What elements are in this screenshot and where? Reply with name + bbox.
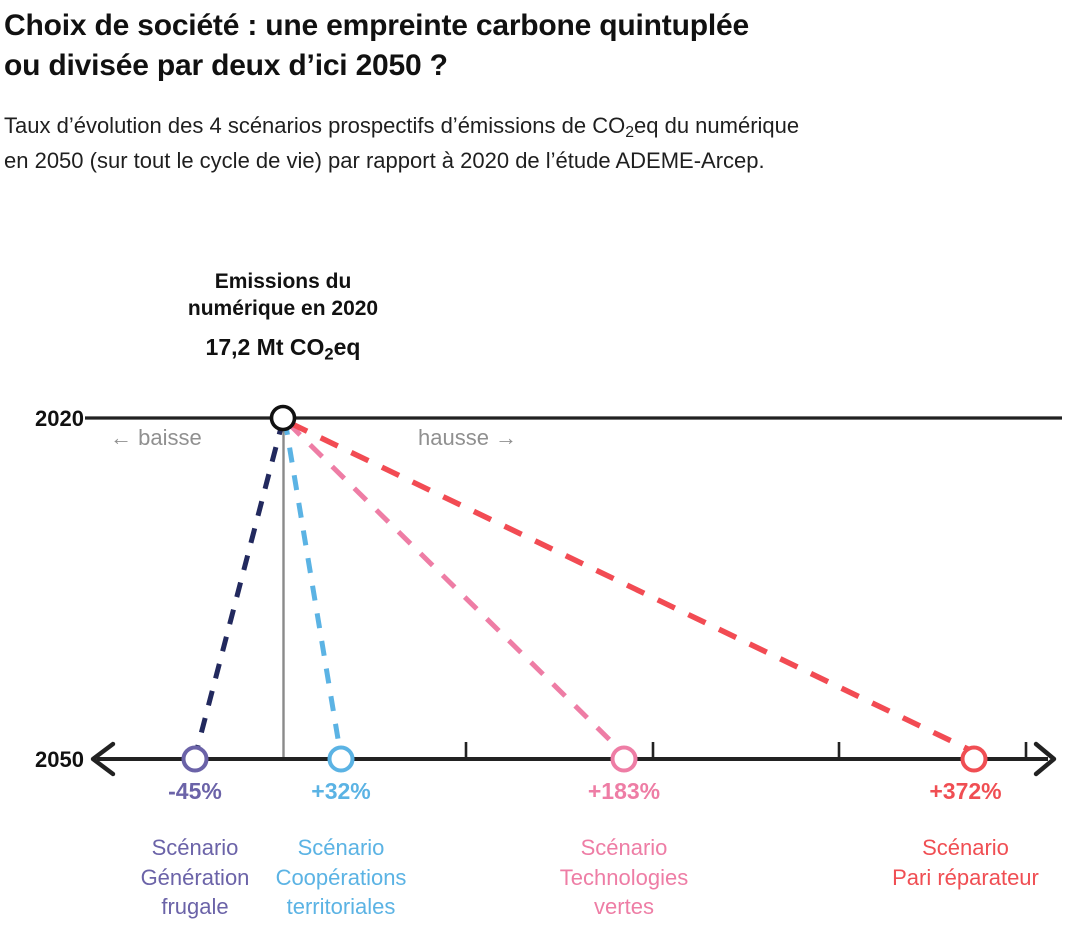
- axis-ticks-2050: [466, 742, 1026, 759]
- baseline-marker-2020: [272, 407, 295, 430]
- connector-line-cooperations-territoriales: [285, 420, 341, 757]
- scenario-block-technologies-vertes: +183% Scénario Technologies vertes: [519, 779, 729, 922]
- direction-label-increase: hausse →: [418, 425, 517, 451]
- scenario-name-technologies-vertes: Scénario Technologies vertes: [519, 804, 729, 921]
- axis-label-2020: 2020: [0, 406, 84, 432]
- scenario-name-pari-reparateur: Scénario Pari réparateur: [862, 804, 1069, 892]
- baseline-callout-caption: Emissions du numérique en 2020: [153, 268, 413, 323]
- scenario-block-pari-reparateur: +372% Scénario Pari réparateur: [862, 779, 1069, 892]
- marker-pari-reparateur: [963, 748, 986, 771]
- connector-line-technologies-vertes: [288, 423, 622, 752]
- scenario-chart: 2020 2050 Emissions du numérique en 2020…: [0, 0, 1069, 951]
- connector-line-pari-reparateur: [290, 423, 970, 750]
- scenario-percent-pari-reparateur: +372%: [862, 779, 1069, 804]
- marker-technologies-vertes: [613, 748, 636, 771]
- scenario-percent-technologies-vertes: +183%: [519, 779, 729, 804]
- baseline-callout-value: 17,2 Mt CO2eq: [153, 323, 413, 365]
- connector-line-generation-frugale: [195, 420, 283, 757]
- scenario-name-cooperations-territoriales: Scénario Coopérations territoriales: [236, 804, 446, 921]
- direction-label-decrease: ← baisse: [110, 425, 202, 451]
- scenario-percent-cooperations-territoriales: +32%: [236, 779, 446, 804]
- marker-cooperations-territoriales: [330, 748, 353, 771]
- axis-label-2050: 2050: [0, 747, 84, 773]
- baseline-callout: Emissions du numérique en 2020 17,2 Mt C…: [153, 268, 413, 364]
- scenario-block-cooperations-territoriales: +32% Scénario Coopérations territoriales: [236, 779, 446, 922]
- marker-generation-frugale: [184, 748, 207, 771]
